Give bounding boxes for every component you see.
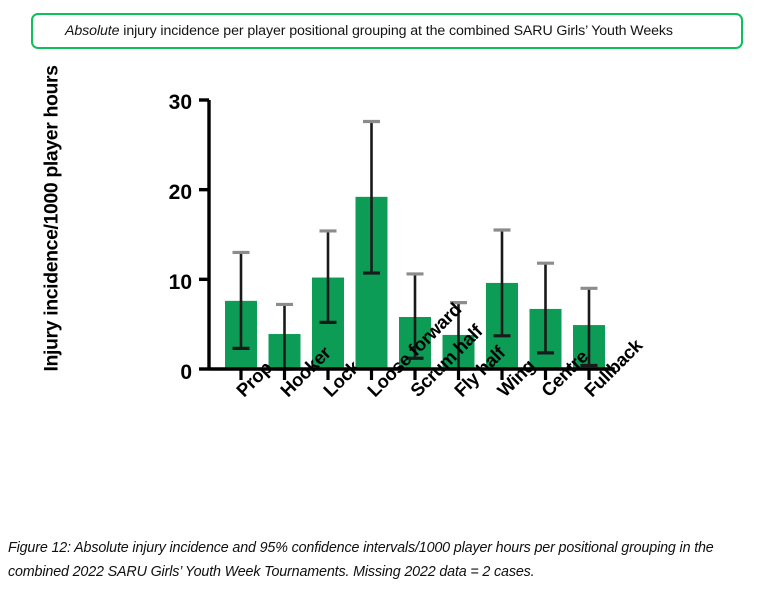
- figure-caption-line1: Figure 12: Absolute injury incidence and…: [8, 540, 714, 556]
- chart-title-rest: injury incidence per player positional g…: [119, 23, 673, 39]
- plot-svg: [0, 60, 777, 460]
- chart-title-text: Absolute injury incidence per player pos…: [65, 23, 673, 39]
- chart-title-banner: Absolute injury incidence per player pos…: [31, 13, 743, 49]
- chart-title-emphasis: Absolute: [65, 23, 119, 39]
- figure-caption: Figure 12: Absolute injury incidence and…: [8, 536, 768, 584]
- figure-caption-line2: combined 2022 SARU Girls’ Youth Week Tou…: [8, 564, 534, 580]
- chart-container: Injury incidence/1000 player hours 0 10 …: [0, 60, 777, 520]
